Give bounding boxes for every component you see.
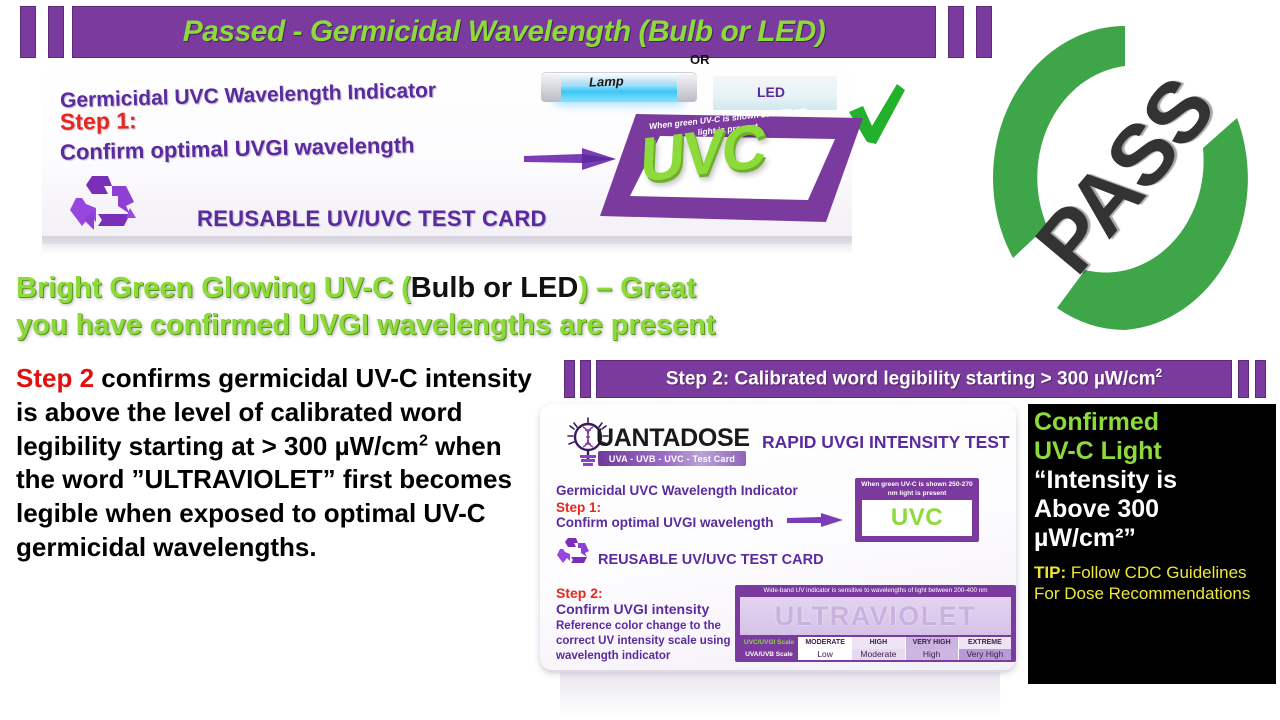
confirm-line-5: µW/cm²” [1034,524,1270,553]
left-paragraph-sup: 2 [419,431,428,449]
tip-label: TIP: [1034,563,1066,582]
uvc-scale-cell-3: VERY HIGH [905,637,958,649]
step2-title-b: Calibrated word legibility starting > 30… [729,369,1155,390]
quantadose-subtitle-strip: UVA - UVB - UVC - Test Card [598,451,746,466]
confirm-line-3: “Intensity is [1034,466,1270,495]
green-subtitle-line1-a: Bright Green Glowing UV-C ( [16,272,411,304]
table-row: UVC/UVGI Scale MODERATE HIGH VERY HIGH E… [740,637,1011,649]
qd-step2-label: Step 2: [556,585,603,601]
step2-tick-right-1 [1238,360,1249,398]
card-reusable-label: REUSABLE UV/UVC TEST CARD [197,206,547,232]
ultraviolet-word: ULTRAVIOLET [775,601,976,632]
qd-reference-text: Reference color change to the correct UV… [556,619,738,664]
card-step1-label: Step 1: [60,107,137,136]
qd-step1-label: Step 1: [556,500,601,515]
uv-note: Wide-band UV indicator is sensitive to w… [735,587,1016,594]
qd-reusable-label: REUSABLE UV/UVC TEST CARD [598,552,824,568]
card-shadow [42,236,852,254]
qd-indicator-label: Germicidal UVC Wavelength Indicator [556,483,798,498]
green-subtitle: Bright Green Glowing UV-C (Bulb or LED) … [16,270,926,344]
step2-header: Step 2: Calibrated word legibility start… [560,360,1280,398]
header-tick-right-1 [948,6,964,58]
tip-text: TIP: Follow CDC Guidelines For Dose Reco… [1034,562,1270,605]
qd-step1-text: Confirm optimal UVGI wavelength [556,515,774,530]
step2-title-sup: 2 [1156,367,1163,380]
uvc-scale-cell-1: MODERATE [798,637,851,649]
quantadose-subtitle-text: UVA - UVB - UVC - Test Card [609,454,735,464]
or-label: OR [690,52,710,67]
tip-body: Follow CDC Guidelines For Dose Recommend… [1034,563,1250,603]
uvc-scale-cell-2: HIGH [851,637,904,649]
green-subtitle-line1-b: Bulb or LED [411,272,579,304]
pass-logo: PASS [975,8,1275,344]
card-reflection [560,672,1000,718]
recycle-icon [556,536,592,566]
green-subtitle-line2: you have confirmed UVGI wavelengths are … [16,307,926,344]
uvab-scale-cell-4: Very High [958,649,1011,661]
qd-step2-text: Confirm UVGI intensity [556,601,709,617]
uvc-indicator-box: When green UV-C is shown 250-270 nm ligh… [855,478,979,542]
uvc-window: UVC [862,500,972,536]
arrow-right-icon [787,513,843,527]
quantadose-logo: UANTADOSE UVA - UVB - UVC - Test Card [556,415,746,473]
table-row: UVA/UVB Scale Low Moderate High Very Hig… [740,649,1011,661]
led-label: LED [757,84,785,100]
step2-header-bar: Step 2: Calibrated word legibility start… [596,360,1232,398]
header-tick-left-2 [48,6,64,58]
left-paragraph: Step 2 confirms germicidal UV-C intensit… [16,362,546,565]
green-subtitle-line1-c: ) – Great [578,272,696,304]
confirm-line-4: Above 300 [1034,495,1270,524]
recycle-icon [68,172,140,230]
ultraviolet-indicator-panel: Wide-band UV indicator is sensitive to w… [735,585,1016,662]
uv-scale-table: UVC/UVGI Scale MODERATE HIGH VERY HIGH E… [740,637,1011,660]
lamp-label: Lamp [589,73,624,89]
uvab-scale-cell-1: Low [798,649,851,661]
quantadose-wordmark: UANTADOSE [596,424,750,453]
green-subtitle-line1: Bright Green Glowing UV-C (Bulb or LED) … [16,270,926,307]
uv-lamp-device: Lamp [541,66,697,108]
uv-window: ULTRAVIOLET [740,597,1011,635]
step2-tick-left-1 [564,360,575,398]
step2-title-a: Step 2: [666,369,729,390]
step2-tick-left-2 [580,360,591,398]
left-paragraph-step-label: Step 2 [16,363,94,393]
uvab-scale-cell-2: Moderate [851,649,904,661]
top-header-bar: Passed - Germicidal Wavelength (Bulb or … [72,6,936,58]
uvab-scale-label: UVA/UVB Scale [740,649,798,661]
confirm-line-2: UV-C Light [1034,437,1270,466]
header-tick-left-1 [20,6,36,58]
uvab-scale-cell-3: High [905,649,958,661]
step2-title: Step 2: Calibrated word legibility start… [666,367,1162,390]
uvc-note: When green UV-C is shown 250-270 nm ligh… [859,481,975,499]
confirmed-uvc-box: Confirmed UV-C Light “Intensity is Above… [1028,404,1276,684]
uvc-word: UVC [891,504,943,532]
step2-tick-right-2 [1255,360,1266,398]
uvc-scale-cell-4: EXTREME [958,637,1011,649]
uv-led-device: LED [713,76,837,110]
uvc-scale-label: UVC/UVGI Scale [740,637,798,649]
page-title: Passed - Germicidal Wavelength (Bulb or … [183,15,826,49]
rapid-test-title: RAPID UVGI INTENSITY TEST [762,432,1010,453]
confirm-line-1: Confirmed [1034,408,1270,437]
